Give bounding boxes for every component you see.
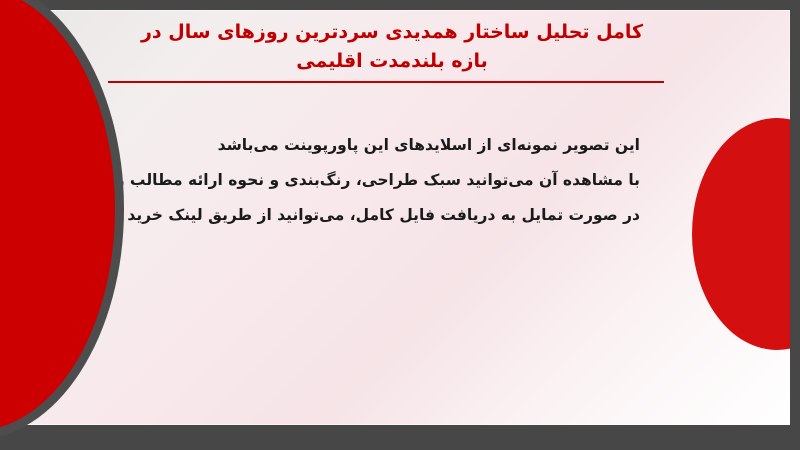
body-line-2: با مشاهده آن می‌توانید سبک طراحی، رنگ‌بن… xyxy=(100,163,640,198)
title-underline-rule xyxy=(108,81,664,83)
slide-title-block: کامل تحلیل ساختار همدیدی سردترین روزهای … xyxy=(102,18,682,83)
presentation-slide: کامل تحلیل ساختار همدیدی سردترین روزهای … xyxy=(0,0,800,450)
body-line-1: این تصویر نمونه‌ای از اسلایدهای این پاور… xyxy=(100,128,640,163)
body-line-3: در صورت تمایل به دریافت فایل کامل، می‌تو… xyxy=(100,198,640,233)
slide-body-block: این تصویر نمونه‌ای از اسلایدهای این پاور… xyxy=(100,128,640,233)
red-ellipse-right xyxy=(692,118,790,350)
slide-content-area: کامل تحلیل ساختار همدیدی سردترین روزهای … xyxy=(10,10,790,425)
slide-title: کامل تحلیل ساختار همدیدی سردترین روزهای … xyxy=(102,18,682,75)
